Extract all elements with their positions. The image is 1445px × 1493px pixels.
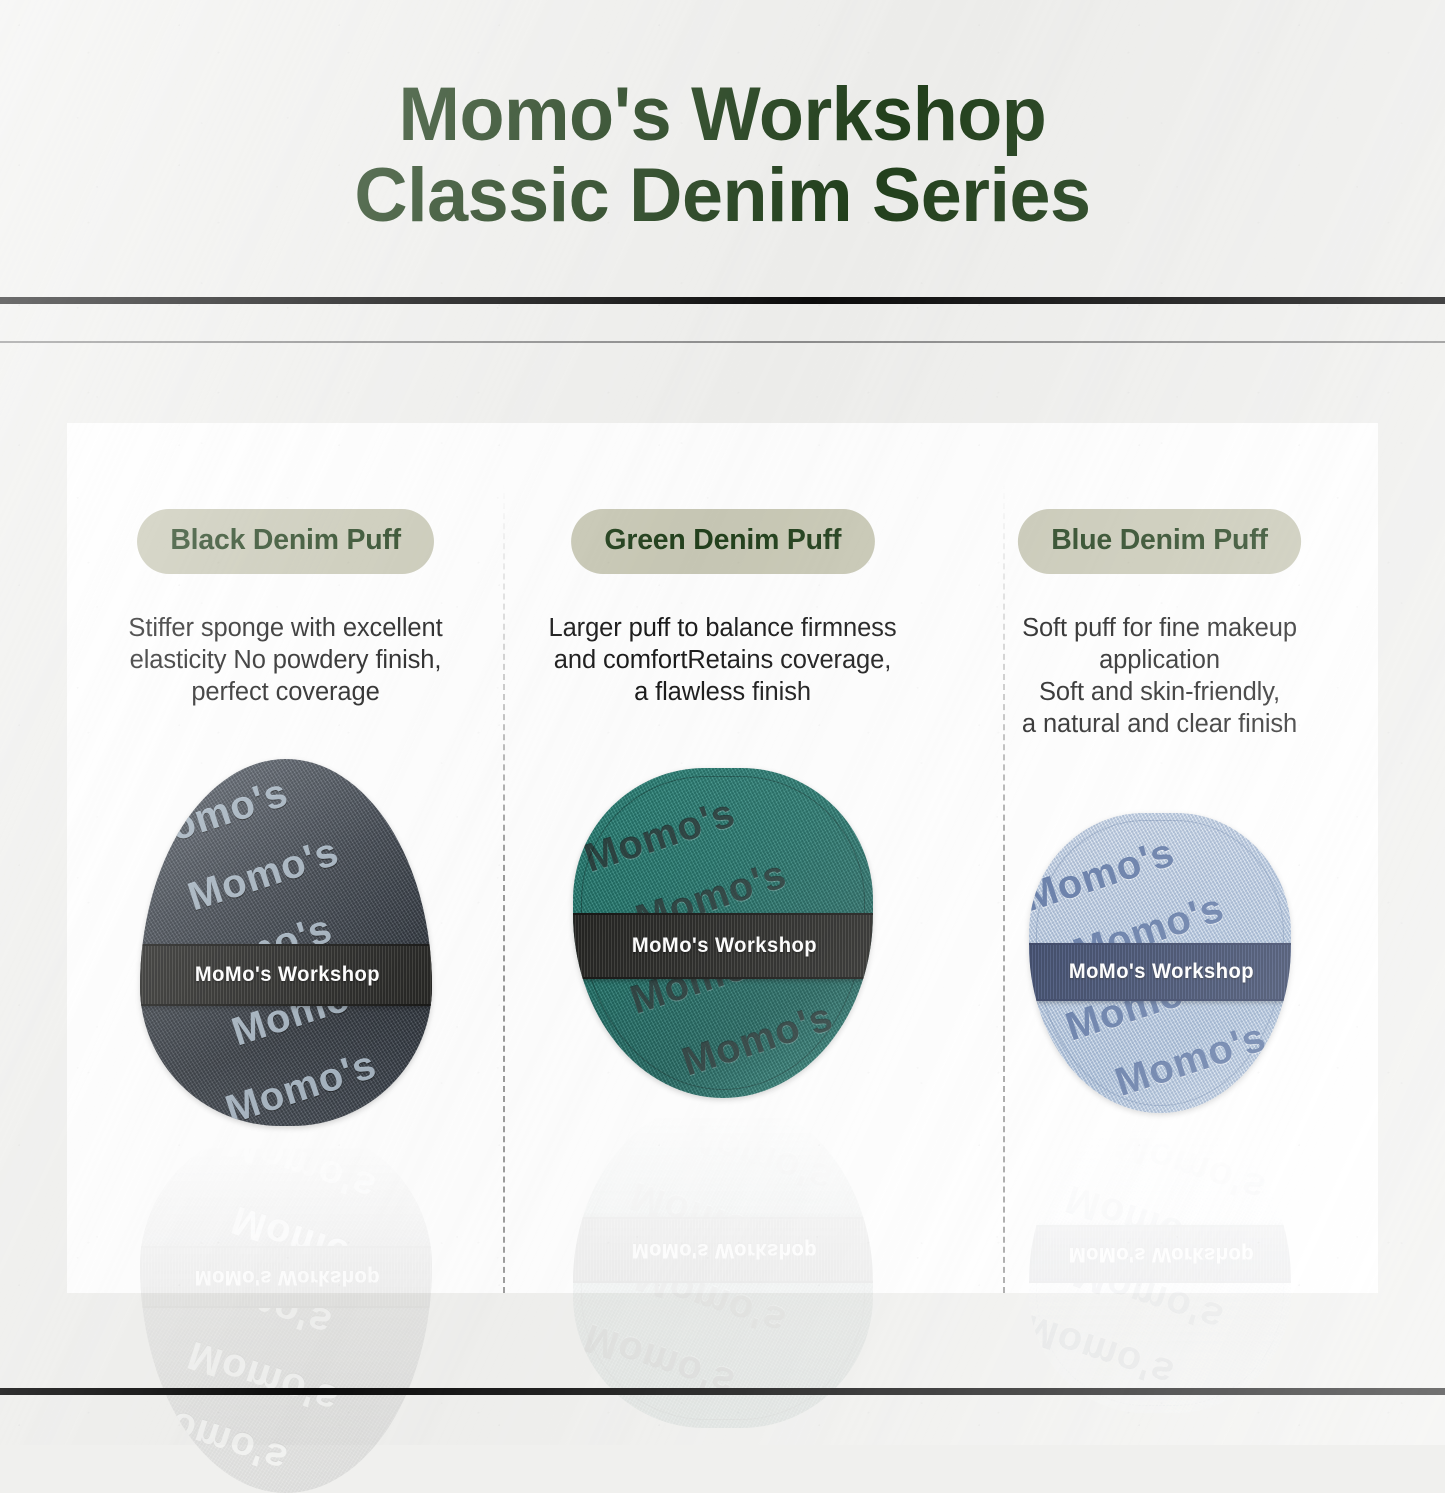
description-line: and comfortRetains coverage, bbox=[549, 644, 897, 676]
puff-product-blue[interactable]: Momo's Momo's Momo's Momo's Momo's Momo'… bbox=[1029, 813, 1291, 1113]
header-banner: Momo's Workshop Classic Denim Series bbox=[0, 0, 1445, 297]
description-line: a flawless finish bbox=[549, 676, 897, 708]
footer-divider-thick bbox=[0, 1388, 1445, 1395]
product-pill-black[interactable]: Black Denim Puff bbox=[137, 509, 434, 574]
product-image-stage-green: Momo's Momo's Momo's Momo's Momo's Momo'… bbox=[504, 708, 941, 1293]
description-line: elasticity No powdery finish, bbox=[128, 644, 442, 676]
description-line: application bbox=[1022, 644, 1297, 676]
puff-product-black[interactable]: Momo's Momo's Momo's Momo's Momo's Momo'… bbox=[140, 759, 432, 1126]
description-line: Stiffer sponge with excellent bbox=[128, 612, 442, 644]
product-pill-green[interactable]: Green Denim Puff bbox=[571, 509, 875, 574]
puff-strap-band-blue: MoMo's Workshop bbox=[1029, 943, 1291, 1001]
page-title: Momo's Workshop Classic Denim Series bbox=[343, 75, 1102, 236]
product-image-stage-blue: Momo's Momo's Momo's Momo's Momo's Momo'… bbox=[941, 741, 1378, 1294]
description-line: perfect coverage bbox=[128, 676, 442, 708]
brand-pattern-text: Momo's Momo's Momo's Momo's Momo's Momo'… bbox=[140, 759, 432, 1126]
description-line: Larger puff to balance firmness bbox=[549, 612, 897, 644]
band-label: MoMo's Workshop bbox=[1069, 960, 1254, 984]
puff-reflection-black: Momo's Momo's Momo's Momo's Momo's Momo'… bbox=[140, 1126, 432, 1493]
puff-reflection-blue: Momo's Momo's Momo's Momo's Momo's Momo'… bbox=[1029, 1113, 1291, 1413]
description-line: a natural and clear finish bbox=[1022, 708, 1297, 740]
product-description-black: Stiffer sponge with excellent elasticity… bbox=[128, 612, 442, 708]
column-divider-1 bbox=[503, 483, 505, 1293]
product-pill-blue[interactable]: Blue Denim Puff bbox=[1018, 509, 1301, 574]
product-column-black: Black Denim Puff Stiffer sponge with exc… bbox=[67, 423, 504, 1293]
title-line-1: Momo's Workshop bbox=[354, 75, 1090, 156]
puff-product-green[interactable]: Momo's Momo's Momo's Momo's Momo's Momo'… bbox=[573, 768, 873, 1098]
product-description-green: Larger puff to balance firmness and comf… bbox=[549, 612, 897, 708]
puff-strap-band-green: MoMo's Workshop bbox=[573, 913, 873, 979]
header-divider-thin bbox=[0, 341, 1445, 343]
product-column-blue: Blue Denim Puff Soft puff for fine makeu… bbox=[941, 423, 1378, 1293]
product-column-green: Green Denim Puff Larger puff to balance … bbox=[504, 423, 941, 1293]
band-label: MoMo's Workshop bbox=[195, 963, 380, 987]
band-label: MoMo's Workshop bbox=[632, 934, 817, 958]
puff-strap-band-black: MoMo's Workshop bbox=[140, 944, 432, 1006]
product-description-blue: Soft puff for fine makeup application So… bbox=[1022, 612, 1297, 741]
title-line-2: Classic Denim Series bbox=[354, 156, 1090, 237]
column-divider-2 bbox=[1003, 483, 1005, 1293]
product-image-stage-black: Momo's Momo's Momo's Momo's Momo's Momo'… bbox=[67, 708, 504, 1293]
description-line: Soft puff for fine makeup bbox=[1022, 612, 1297, 644]
product-comparison-card: Black Denim Puff Stiffer sponge with exc… bbox=[67, 423, 1378, 1293]
header-divider-thick bbox=[0, 297, 1445, 304]
puff-reflection-green: Momo's Momo's Momo's Momo's Momo's Momo'… bbox=[573, 1098, 873, 1428]
description-line: Soft and skin-friendly, bbox=[1022, 676, 1297, 708]
